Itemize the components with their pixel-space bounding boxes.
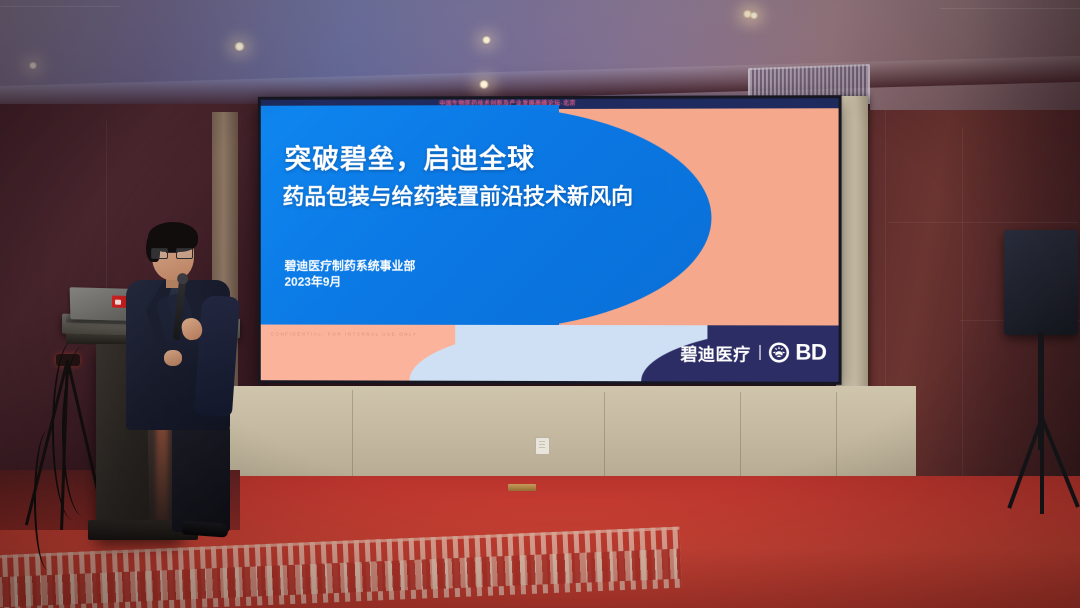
slide-title: 突破碧垒，启迪全球 — [284, 137, 535, 176]
pa-speaker-assembly — [1004, 230, 1080, 520]
speaker-stand-leg — [1040, 417, 1080, 508]
slide-footer: CONFIDENTIAL: FOR INTERNAL USE ONLY 碧迪医疗… — [261, 325, 839, 382]
downlight-icon — [28, 62, 38, 69]
wall-panel-seam — [962, 128, 963, 508]
downlight-icon — [481, 36, 492, 44]
cable — [34, 430, 62, 570]
wall-outlet-plate — [535, 437, 550, 455]
speaker-stand-leg — [1007, 417, 1044, 509]
led-presentation-screen: 中国生物医药技术创新及产业发展高峰论坛·北京 突破碧垒，启迪全球 药品包装与给药… — [258, 95, 842, 385]
stage-wall-seam — [352, 390, 353, 490]
slide-organization: 碧迪医疗制药系统事业部 — [284, 259, 415, 274]
conference-room-photo: 中国生物医药技术创新及产业发展高峰论坛·北京 突破碧垒，启迪全球 药品包装与给药… — [0, 0, 1080, 608]
downlight-icon — [233, 42, 246, 51]
ceiling-seam — [0, 6, 120, 7]
stage-wall-seam — [740, 392, 741, 488]
bd-sunburst-icon — [769, 342, 789, 362]
pa-speaker-box — [1004, 230, 1078, 335]
stage-wall-seam — [836, 392, 837, 488]
speaker-stand-leg — [1040, 418, 1044, 514]
bd-logo: 碧迪医疗 | — [680, 339, 826, 365]
bd-chinese-name: 碧迪医疗 — [680, 340, 750, 365]
eyeglasses-icon — [151, 248, 193, 257]
presenter-hand-on-podium — [164, 350, 182, 366]
wall-panel-seam — [888, 222, 1078, 223]
downlight-icon — [478, 80, 490, 89]
slide-canvas: 中国生物医药技术创新及产业发展高峰论坛·北京 突破碧垒，启迪全球 药品包装与给药… — [261, 98, 839, 382]
downlight-icon — [749, 12, 759, 19]
bd-divider: | — [758, 343, 762, 361]
slide-date: 2023年9月 — [284, 275, 341, 290]
brass-floor-socket — [508, 484, 536, 491]
ceiling-seam — [940, 8, 1080, 9]
slide-subtitle: 药品包装与给药装置前沿技术新风向 — [283, 179, 634, 211]
presenter-legs — [172, 422, 230, 532]
presenter — [120, 222, 240, 522]
bd-brand-text: BD — [795, 339, 826, 365]
confidential-notice: CONFIDENTIAL: FOR INTERNAL USE ONLY — [271, 331, 418, 336]
